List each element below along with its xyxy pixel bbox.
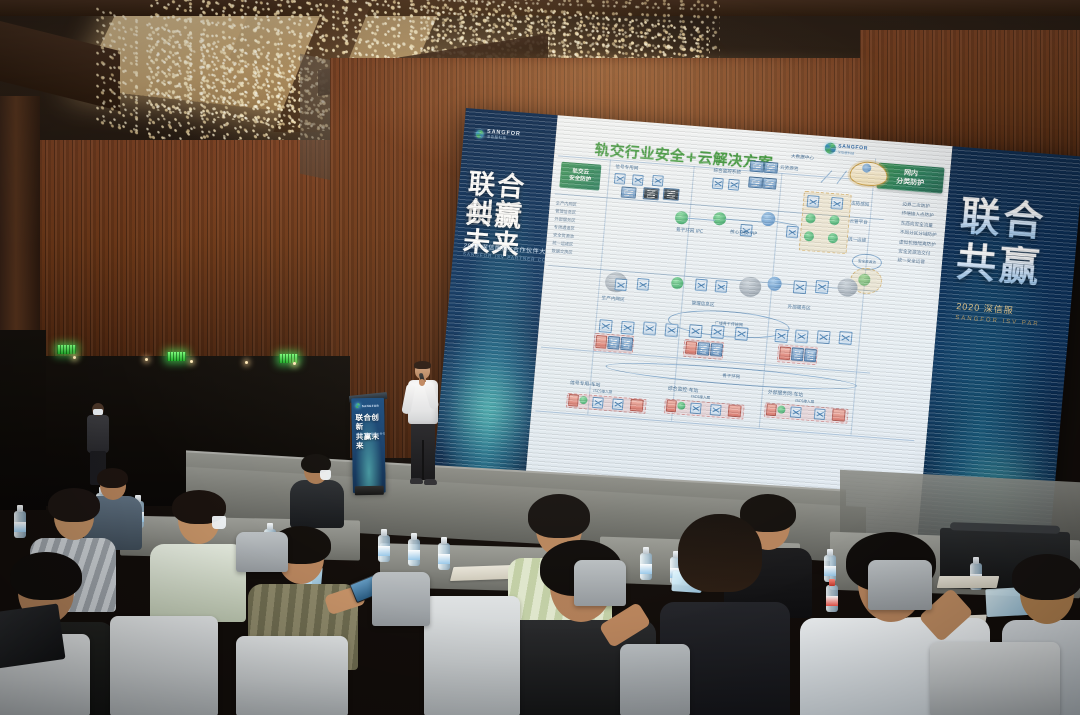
firewall-node: [779, 346, 791, 360]
station-block-title: 外部服务网-车站: [768, 389, 804, 399]
speaker-shoe: [424, 479, 437, 485]
backbone-ring: 骨干环网: [605, 358, 858, 395]
water-bottle: [378, 528, 390, 562]
led-right-headline-2: 共赢: [954, 241, 1043, 290]
switch-node: [830, 197, 843, 210]
server-node: [748, 176, 763, 188]
switch-node: [621, 321, 635, 335]
audience-member: [150, 490, 246, 620]
switch-node: [592, 397, 604, 409]
section-label: 核心交换 VIP: [730, 229, 758, 237]
sangfor-logo-left: SANGFOR 深信服科技: [475, 129, 520, 142]
notepad: [450, 565, 512, 581]
switch-node: [839, 331, 853, 345]
switch-node: [695, 279, 708, 292]
server-node: [710, 343, 723, 357]
switch-node: [807, 195, 820, 208]
water-bottle: [14, 504, 26, 538]
switch-node: [614, 278, 627, 291]
switch-node: [728, 179, 740, 191]
firewall-node: [595, 335, 607, 349]
switch-node: [643, 322, 657, 336]
globe-icon: [475, 129, 484, 138]
badge-line2: 分类防护: [896, 177, 925, 188]
server-node: [804, 348, 817, 362]
firewall-node: [685, 341, 697, 355]
switch-node: [710, 404, 722, 416]
wood-wall-left: [0, 140, 340, 370]
section-label: 云资源池: [780, 165, 799, 172]
gray-cloud-node: [837, 278, 859, 297]
switch-node: [774, 329, 788, 343]
lectern-base: [355, 486, 384, 496]
firewall-node: [832, 409, 846, 422]
led-right-en: SANGFOR ISV PAR: [955, 315, 1040, 328]
switch-node: [689, 324, 703, 338]
chair: [574, 560, 626, 606]
globe-icon: [355, 403, 360, 408]
switch-node: [794, 330, 808, 344]
dark-wall-edge: [0, 330, 46, 510]
server-node: [749, 160, 764, 172]
wall-downlight: [145, 358, 148, 361]
slide-side-list: 边界二次防护终端接入点防护东西向安全流量不同分区分域防护虚拟机微隔离防护安全资源…: [897, 201, 940, 269]
conference-photograph: SANGFOR 深信服科技 联合创新 共赢未来 2020 深信服ISV合作伙伴大…: [0, 0, 1080, 715]
wall-downlight: [73, 356, 76, 359]
staff-body: [87, 415, 109, 453]
section-label: 骨干环网 IPC: [676, 227, 704, 235]
switch-node: [712, 178, 724, 190]
exit-sign: [167, 352, 186, 361]
switch-node: [786, 226, 799, 239]
lectern-branding-panel: SANGFOR 联合创新 共赢未来 2020 深信服ISV合作伙伴大会: [351, 398, 386, 494]
person-hair: [678, 514, 762, 592]
section-label: 态势感知: [851, 201, 870, 208]
wall-downlight: [293, 362, 296, 365]
chair: [236, 532, 288, 572]
server-node: [621, 186, 637, 198]
wall-downlight: [190, 360, 193, 363]
switch-node: [816, 330, 830, 344]
laptop: [0, 603, 66, 668]
lectern-subtitle: 2020 深信服ISV合作伙伴大会: [356, 431, 386, 436]
led-right-headline-1: 联合: [958, 195, 1047, 244]
led-right-year: 2020 深信服: [956, 299, 1015, 316]
section-label: 管理信息区: [691, 300, 714, 308]
person-hair: [528, 494, 590, 538]
water-bottle: [408, 532, 420, 566]
slide-green-block: 轨交云安全防护: [559, 162, 601, 191]
section-label: 云管平台: [849, 218, 868, 225]
station-block-title: 综合监控-车站: [668, 385, 699, 394]
switch-node: [814, 408, 826, 420]
firewall-node: [568, 394, 579, 407]
firewall-node: [666, 400, 677, 413]
wall-downlight: [245, 361, 248, 364]
speaker-leg-split: [422, 440, 424, 480]
speaker: [400, 362, 446, 494]
switch-node: [614, 173, 626, 185]
switch-node: [612, 398, 624, 410]
blue-node: [767, 276, 782, 291]
switch-node: [815, 280, 829, 294]
switch-node: [711, 325, 725, 339]
chair: [372, 572, 430, 626]
firewall-node: [766, 404, 777, 417]
chair: [110, 616, 218, 715]
firewall-node: [728, 405, 742, 418]
exit-sign: [57, 345, 76, 354]
switch-node: [790, 406, 802, 418]
water-bottle: [438, 536, 450, 570]
speaker-shoe: [410, 478, 423, 484]
chair: [236, 636, 348, 715]
person-hair: [10, 552, 82, 600]
face-mask: [212, 516, 226, 529]
firewall-node: [630, 399, 644, 412]
section-label: 统一运维: [848, 236, 867, 243]
audience-member: [290, 456, 346, 526]
person-hair: [1012, 554, 1080, 600]
server-node: [620, 337, 633, 351]
section-label: 大数据中心: [791, 154, 814, 162]
block-line1: 轨交云安全防护: [569, 169, 592, 184]
lectern: SANGFOR 联合创新 共赢未来 2020 深信服ISV合作伙伴大会: [351, 398, 386, 494]
switch-node: [637, 278, 650, 291]
switch-node: [664, 323, 678, 337]
speaker-hand: [419, 379, 425, 386]
server-node: [697, 342, 710, 356]
server-node: [643, 187, 660, 200]
switch-node: [632, 174, 644, 186]
section-label: 信号专用网: [615, 164, 638, 172]
server-node: [762, 178, 777, 190]
section-label: 外部服务区: [787, 304, 810, 312]
switch-node: [690, 403, 702, 415]
person-body: [290, 480, 344, 528]
speaker-hair: [414, 361, 431, 369]
chair: [424, 596, 520, 715]
switch-node: [734, 327, 748, 341]
switch-node: [793, 280, 807, 294]
server-node: [763, 162, 778, 174]
server-node: [663, 188, 680, 201]
face-mask: [93, 409, 103, 415]
server-node: [607, 336, 620, 350]
switch-node: [599, 319, 613, 333]
slide-left-labels: 生产内网区管理信息区外部服务区专用通道区安全资源池统一运维区数据交换区: [551, 199, 577, 256]
chair: [868, 560, 932, 610]
lectern-logo: SANGFOR: [355, 403, 379, 408]
server-node: [791, 347, 804, 361]
chair: [930, 642, 1060, 715]
lectern-headline-1: 联合创新: [355, 413, 379, 432]
section-label: 生产内网区: [601, 295, 624, 303]
person-body: [150, 544, 246, 622]
wan-ring: 广域骨干传输网: [667, 307, 791, 342]
gray-cloud-node: [738, 276, 762, 298]
blue-node: [761, 212, 776, 227]
chair: [620, 644, 690, 715]
face-mask: [320, 470, 331, 480]
section-label: 综合监控系统: [713, 168, 741, 176]
sangfor-logo-slide: SANGFOR 深信服科技: [824, 142, 868, 156]
brand-name: SANGFOR: [362, 403, 379, 407]
person-hair: [48, 488, 100, 522]
switch-node: [652, 175, 664, 187]
station-block-title: 信号专用-车站: [570, 379, 601, 388]
switch-node: [715, 280, 728, 293]
person-hair: [97, 468, 128, 488]
globe-icon: [824, 142, 836, 154]
